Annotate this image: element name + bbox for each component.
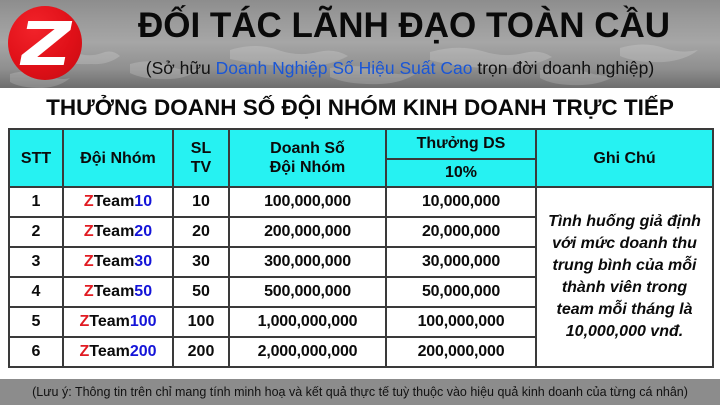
team-name: Team <box>89 313 130 330</box>
cell-stt: 1 <box>9 187 63 217</box>
cell-stt: 3 <box>9 247 63 277</box>
table-row: 1 ZTeam10 10 100,000,000 10,000,000 Tình… <box>9 187 713 217</box>
team-prefix: Z <box>84 283 94 300</box>
bonus-header-split: Thưởng DS 10% <box>387 130 535 186</box>
team-name: Team <box>89 343 130 360</box>
cell-bonus: 30,000,000 <box>386 247 536 277</box>
col-header-bonus-title: Thưởng DS <box>387 130 535 159</box>
cell-stt: 2 <box>9 217 63 247</box>
z-logo-icon <box>8 6 82 80</box>
team-name: Team <box>94 223 135 240</box>
cell-team: ZTeam200 <box>63 337 173 367</box>
bonus-table-container: STT Đội Nhóm SL TV Doanh Số Đội Nhóm Thư… <box>0 128 720 379</box>
col-header-revenue-line1: Doanh Số <box>230 139 385 158</box>
team-name: Team <box>94 193 135 210</box>
subtitle-suffix: trọn đời doanh nghiệp) <box>472 58 654 78</box>
cell-sl-tv: 10 <box>173 187 229 217</box>
cell-team: ZTeam50 <box>63 277 173 307</box>
col-header-sl-tv-line1: SL <box>174 139 228 158</box>
cell-revenue: 500,000,000 <box>229 277 386 307</box>
col-header-note: Ghi Chú <box>536 129 713 187</box>
team-number: 100 <box>130 313 157 330</box>
team-prefix: Z <box>84 223 94 240</box>
table-title-band: THƯỞNG DOANH SỐ ĐỘI NHÓM KINH DOANH TRỰC… <box>0 88 720 128</box>
table-body: 1 ZTeam10 10 100,000,000 10,000,000 Tình… <box>9 187 713 367</box>
poster-root: ĐỐI TÁC LÃNH ĐẠO TOÀN CẦU (Sở hữu Doanh … <box>0 0 720 405</box>
team-prefix: Z <box>79 343 89 360</box>
bonus-table: STT Đội Nhóm SL TV Doanh Số Đội Nhóm Thư… <box>8 128 714 368</box>
cell-revenue: 100,000,000 <box>229 187 386 217</box>
table-header-row: STT Đội Nhóm SL TV Doanh Số Đội Nhóm Thư… <box>9 129 713 187</box>
cell-sl-tv: 30 <box>173 247 229 277</box>
cell-bonus: 100,000,000 <box>386 307 536 337</box>
cell-revenue: 2,000,000,000 <box>229 337 386 367</box>
cell-revenue: 1,000,000,000 <box>229 307 386 337</box>
team-prefix: Z <box>79 313 89 330</box>
team-number: 200 <box>130 343 157 360</box>
subtitle-prefix: (Sở hữu <box>146 58 216 78</box>
cell-sl-tv: 20 <box>173 217 229 247</box>
cell-bonus: 20,000,000 <box>386 217 536 247</box>
team-name: Team <box>94 283 135 300</box>
team-number: 50 <box>134 283 152 300</box>
col-header-revenue-line2: Đội Nhóm <box>230 158 385 177</box>
cell-sl-tv: 200 <box>173 337 229 367</box>
team-prefix: Z <box>84 253 94 270</box>
col-header-sl-tv-line2: TV <box>174 158 228 177</box>
col-header-stt: STT <box>9 129 63 187</box>
team-number: 20 <box>134 223 152 240</box>
page-subtitle: (Sở hữu Doanh Nghiệp Số Hiệu Suất Cao tr… <box>82 56 718 80</box>
team-prefix: Z <box>84 193 94 210</box>
table-title: THƯỞNG DOANH SỐ ĐỘI NHÓM KINH DOANH TRỰC… <box>0 88 720 128</box>
cell-revenue: 300,000,000 <box>229 247 386 277</box>
footer-disclaimer: (Lưu ý: Thông tin trên chỉ mang tính min… <box>0 379 720 405</box>
page-title: ĐỐI TÁC LÃNH ĐẠO TOÀN CẦU <box>90 3 718 48</box>
cell-sl-tv: 100 <box>173 307 229 337</box>
cell-team: ZTeam30 <box>63 247 173 277</box>
cell-stt: 4 <box>9 277 63 307</box>
cell-bonus: 10,000,000 <box>386 187 536 217</box>
cell-bonus: 50,000,000 <box>386 277 536 307</box>
subtitle-highlight: Doanh Nghiệp Số Hiệu Suất Cao <box>216 58 473 78</box>
col-header-bonus: Thưởng DS 10% <box>386 129 536 187</box>
cell-stt: 5 <box>9 307 63 337</box>
cell-sl-tv: 50 <box>173 277 229 307</box>
header-banner: ĐỐI TÁC LÃNH ĐẠO TOÀN CẦU (Sở hữu Doanh … <box>0 0 720 88</box>
col-header-team: Đội Nhóm <box>63 129 173 187</box>
z-letter-mark-icon <box>17 17 73 69</box>
team-number: 10 <box>134 193 152 210</box>
col-header-sl-tv: SL TV <box>173 129 229 187</box>
cell-note: Tình huống giả định với mức doanh thu tr… <box>536 187 713 367</box>
cell-team: ZTeam20 <box>63 217 173 247</box>
cell-bonus: 200,000,000 <box>386 337 536 367</box>
team-number: 30 <box>134 253 152 270</box>
col-header-bonus-rate: 10% <box>387 159 535 186</box>
cell-revenue: 200,000,000 <box>229 217 386 247</box>
cell-stt: 6 <box>9 337 63 367</box>
col-header-revenue: Doanh Số Đội Nhóm <box>229 129 386 187</box>
team-name: Team <box>94 253 135 270</box>
cell-team: ZTeam100 <box>63 307 173 337</box>
cell-team: ZTeam10 <box>63 187 173 217</box>
